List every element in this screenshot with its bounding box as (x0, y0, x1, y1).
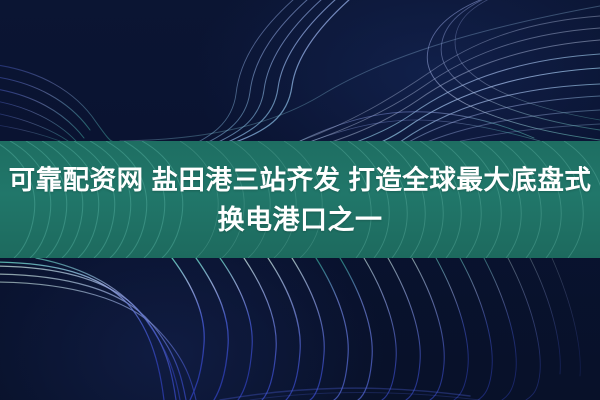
headline-line-2: 换电港口之一 (218, 202, 383, 238)
banner-image: 可靠配资网 盐田港三站齐发 打造全球最大底盘式 换电港口之一 (0, 0, 600, 400)
headline-block: 可靠配资网 盐田港三站齐发 打造全球最大底盘式 换电港口之一 (0, 141, 600, 258)
headline-line-1: 可靠配资网 盐田港三站齐发 打造全球最大底盘式 (9, 162, 592, 198)
